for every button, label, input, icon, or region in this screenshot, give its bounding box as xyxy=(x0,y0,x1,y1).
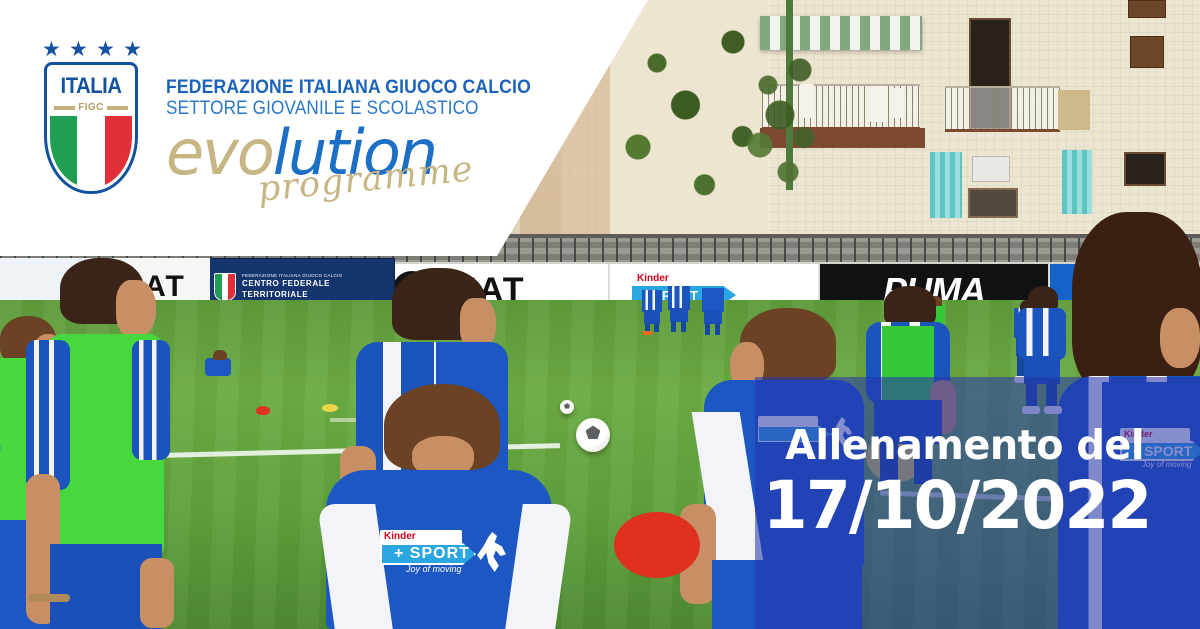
player-distant xyxy=(640,290,664,334)
caption-line-1: Allenamento del xyxy=(767,425,1144,466)
figc-crest-small-icon xyxy=(214,273,236,301)
tricolor-white xyxy=(77,116,104,188)
tricolor-green xyxy=(50,116,77,188)
balcony-screen xyxy=(1058,90,1090,130)
red-training-disc xyxy=(614,512,700,578)
training-cone xyxy=(256,406,270,415)
federation-line-1: FEDERAZIONE ITALIANA GIUOCO CALCIO xyxy=(166,78,463,98)
jersey-sport-label: + SPORT xyxy=(394,545,470,563)
figc-bar-right xyxy=(107,106,128,110)
jersey-tagline: Joy of moving xyxy=(406,564,462,574)
jersey-kinder-sport-logo: Kinder + SPORT Joy of moving xyxy=(380,530,500,578)
jersey-kinder-brand: Kinder xyxy=(384,531,416,542)
air-conditioner xyxy=(972,156,1010,182)
player-foreground-left-tall xyxy=(24,258,184,629)
player-distant xyxy=(205,350,239,384)
window-shutter xyxy=(1128,0,1166,18)
caption-date: 17/10/2022 xyxy=(763,470,1144,541)
crest-italia-label: ITALIA xyxy=(53,73,128,99)
star-icon: ★ xyxy=(123,39,142,60)
player-distant xyxy=(666,286,692,334)
window-curtain xyxy=(930,152,962,218)
crest-stars: ★ ★ ★ ★ xyxy=(42,38,142,60)
figc-crest: ★ ★ ★ ★ ITALIA FIGC xyxy=(38,38,144,198)
star-icon: ★ xyxy=(42,39,61,60)
balcony-railing xyxy=(945,86,1060,132)
figc-bar-left xyxy=(54,106,75,110)
caption-block: Allenamento del 17/10/2022 xyxy=(755,377,1200,629)
federation-name: FEDERAZIONE ITALIANA GIUOCO CALCIO SETTO… xyxy=(166,78,496,120)
cft-line-1: CENTRO FEDERALE xyxy=(242,279,330,288)
player-foreground-center-kinder: Kinder + SPORT Joy of moving xyxy=(288,384,588,629)
crest-figc-row: FIGC xyxy=(54,102,128,113)
tricolor-red xyxy=(105,116,132,188)
crest-figc-label: FIGC xyxy=(78,102,104,113)
cft-line-2: TERRITORIALE xyxy=(242,290,308,299)
star-icon: ★ xyxy=(69,39,88,60)
star-icon: ★ xyxy=(96,39,115,60)
crest-shield: ITALIA FIGC xyxy=(44,62,138,194)
kinder-brand-label: Kinder xyxy=(637,273,669,284)
window xyxy=(1124,152,1166,186)
evolution-programme-wordmark: evolution programme xyxy=(166,122,496,214)
italian-tricolor xyxy=(50,116,132,188)
window-curtain xyxy=(1062,150,1092,214)
tree-foliage xyxy=(744,40,824,190)
window-shutter xyxy=(1130,36,1164,68)
figc-evolution-banner: eni FIAT Kinder + SPORT Joy of moving PU… xyxy=(0,0,1200,629)
hanging-laundry xyxy=(870,86,888,122)
hanging-laundry xyxy=(892,88,904,118)
